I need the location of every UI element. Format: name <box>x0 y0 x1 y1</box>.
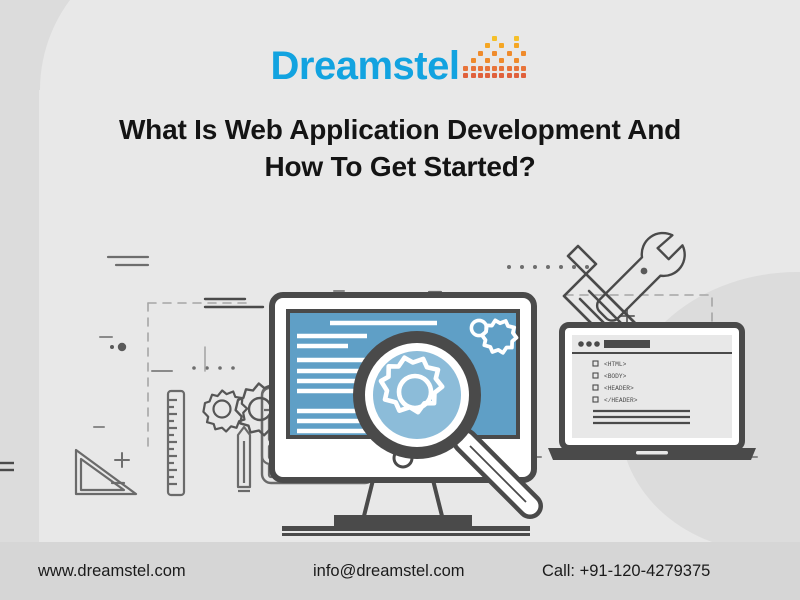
laptop-code-line-3: <HEADER> <box>604 385 634 392</box>
brand-dot <box>492 51 497 56</box>
brand-dot <box>514 36 519 41</box>
brand-dot <box>463 73 468 78</box>
poster-canvas: Dreamstel What Is Web Application Develo… <box>0 0 800 600</box>
brand-dot <box>521 51 526 56</box>
brand-dot <box>507 66 512 71</box>
brand-dot <box>514 58 519 63</box>
brand-dot <box>514 43 519 48</box>
brand-dot <box>499 66 504 71</box>
brand-dot <box>492 66 497 71</box>
page-title: What Is Web Application Development And … <box>50 112 750 186</box>
brand-dot <box>499 58 504 63</box>
decorative-dashed-frame-left <box>148 303 248 447</box>
page-title-line-1: What Is Web Application Development And <box>119 114 681 145</box>
brand-dot <box>507 51 512 56</box>
laptop-code-line-4: </HEADER> <box>604 397 638 404</box>
set-square-icon <box>76 450 136 494</box>
brand-dot <box>471 66 476 71</box>
footer-email[interactable]: info@dreamstel.com <box>313 562 465 581</box>
wrench-icon <box>597 233 685 321</box>
footer-website[interactable]: www.dreamstel.com <box>38 562 186 581</box>
gear-small-left-icon <box>203 391 247 432</box>
brand-dot <box>514 66 519 71</box>
brand-dot <box>492 36 497 41</box>
brand-dot <box>521 66 526 71</box>
brand-dot <box>521 73 526 78</box>
brand-dot-grid-icon <box>463 36 529 84</box>
brand-dot <box>471 73 476 78</box>
decorative-edge-marks <box>0 463 14 470</box>
brand-dot <box>507 73 512 78</box>
laptop-illustration <box>548 325 756 460</box>
brand-dot <box>499 73 504 78</box>
brand-dot <box>471 58 476 63</box>
footer-contact-bar: www.dreamstel.com info@dreamstel.com Cal… <box>0 542 800 600</box>
brand-dot <box>514 73 519 78</box>
brand-dot <box>485 73 490 78</box>
laptop-code-line-1: <HTML> <box>604 361 627 368</box>
brand-dot <box>485 43 490 48</box>
brand-dot <box>499 43 504 48</box>
pencil-icon <box>238 427 250 491</box>
brand-dot <box>478 66 483 71</box>
brand-dot <box>485 58 490 63</box>
brand-dot <box>485 66 490 71</box>
laptop-code-line-2: <BODY> <box>604 373 627 380</box>
hero-illustration: <> <box>0 195 800 540</box>
ruler-icon <box>168 391 184 495</box>
decorative-dashes-left <box>108 257 148 265</box>
brand-wordmark: Dreamstel <box>271 46 460 86</box>
page-title-line-2: How To Get Started? <box>264 151 535 182</box>
brand-dot <box>492 73 497 78</box>
brand-dot <box>463 66 468 71</box>
brand-dot <box>478 51 483 56</box>
brand-dot <box>478 73 483 78</box>
brand-logo[interactable]: Dreamstel <box>0 36 800 86</box>
footer-phone[interactable]: Call: +91-120-4279375 <box>542 562 710 581</box>
